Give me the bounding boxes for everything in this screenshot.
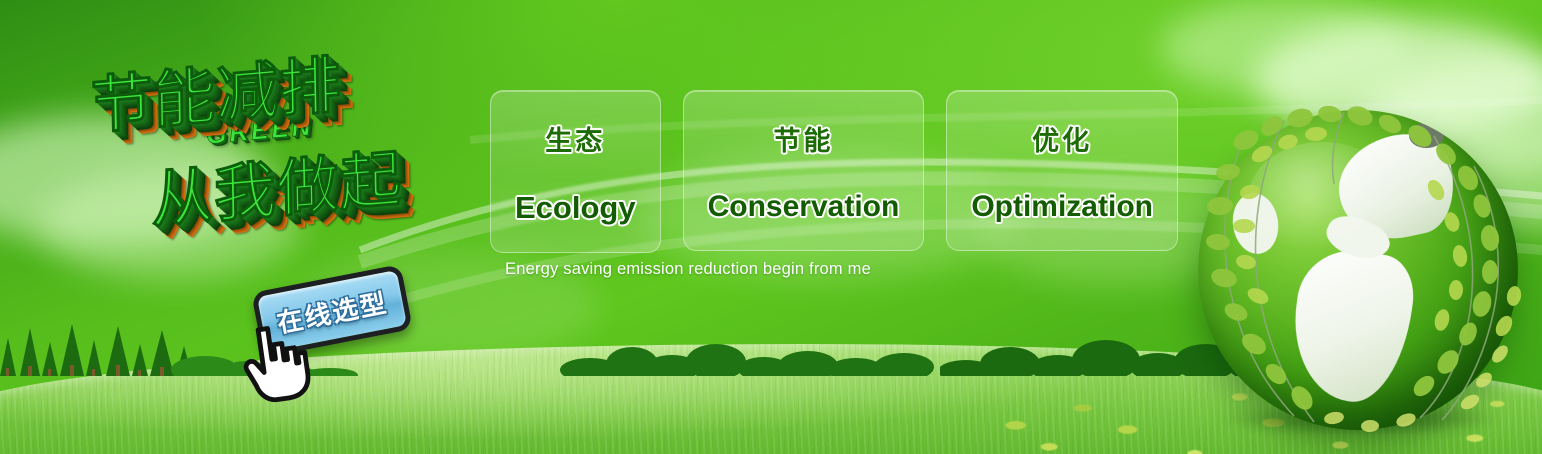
globe-highlight	[1249, 142, 1396, 251]
continent-dark-patch	[1409, 123, 1444, 149]
feature-card-conservation[interactable]: 节能 Conservation	[683, 90, 925, 251]
feature-card-title-en: Ecology	[515, 190, 636, 226]
feature-card-title-cn: 优化	[971, 119, 1153, 158]
feature-card-title-en: Optimization	[971, 190, 1153, 224]
hand-pointer-cursor-icon	[238, 318, 316, 404]
feature-card-ecology[interactable]: 生态 Ecology	[490, 90, 661, 253]
feature-card-list: 生态 Ecology 节能 Conservation 优化 Optimizati…	[490, 90, 1178, 253]
earth-globe-graphic	[1198, 110, 1518, 430]
feature-card-optimization[interactable]: 优化 Optimization	[946, 90, 1178, 251]
feature-card-title-cn: 生态	[515, 119, 636, 158]
headline-3d: 节能减排 GREEN 从我做起	[87, 21, 506, 285]
continent-south-america	[1284, 244, 1419, 409]
cloud-icon	[1160, 0, 1410, 95]
headline-line-2: 从我做起	[150, 119, 498, 240]
feature-card-title-cn: 节能	[708, 119, 900, 158]
promo-banner: 节能减排 GREEN 从我做起 生态 Ecology 节能 Conservati…	[0, 0, 1542, 454]
banner-subtitle: Energy saving emission reduction begin f…	[505, 260, 871, 279]
feature-card-title-en: Conservation	[708, 190, 900, 224]
globe-sphere	[1198, 110, 1518, 430]
